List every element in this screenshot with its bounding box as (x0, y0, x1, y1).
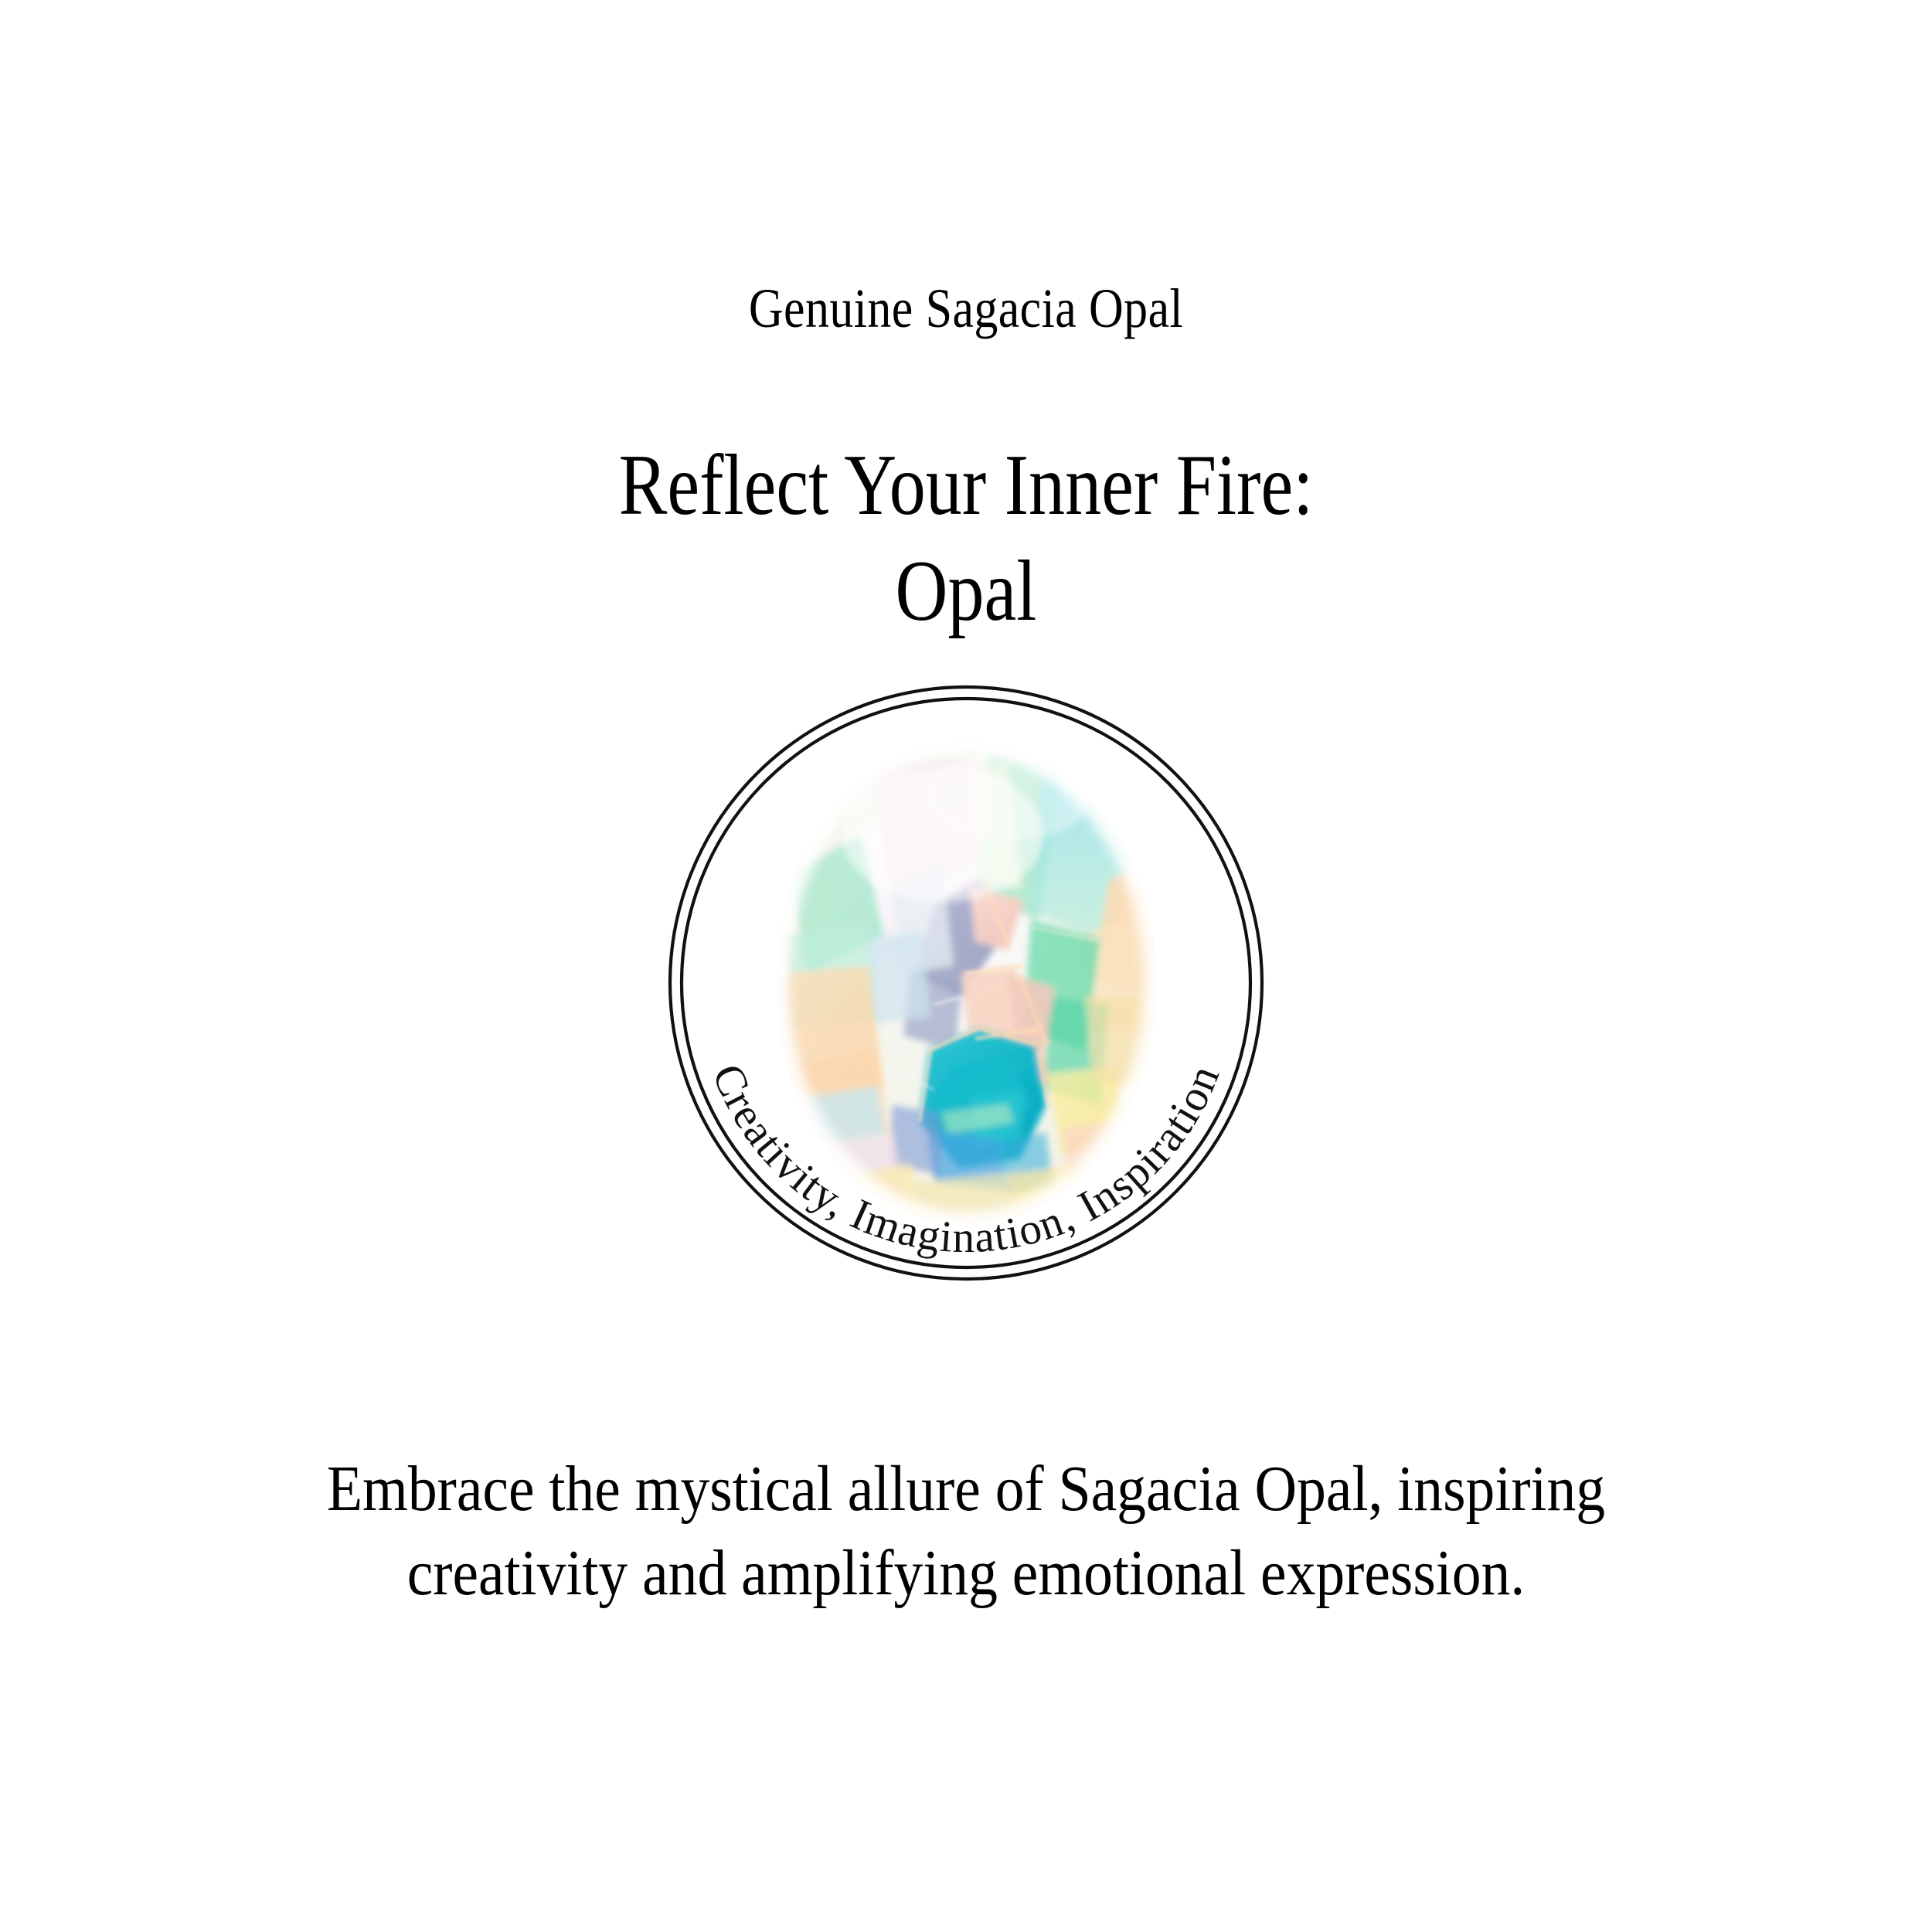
headline-line-1: Reflect Your Inner Fire: (155, 433, 1777, 539)
product-description: Embrace the mystical allure of Sagacia O… (270, 1447, 1662, 1615)
brand-eyebrow: Genuine Sagacia Opal (135, 278, 1797, 339)
ring-outer-circle (670, 687, 1262, 1279)
product-card: Genuine Sagacia Opal Reflect Your Inner … (0, 0, 1932, 1932)
page-title: Reflect Your Inner Fire: Opal (155, 433, 1777, 644)
emblem-ring: Creativity, Imagination, Inspiration (668, 685, 1264, 1281)
emblem-arc-text: Creativity, Imagination, Inspiration (702, 1057, 1230, 1262)
ring-inner-circle (682, 699, 1250, 1267)
headline-line-2: Opal (155, 539, 1777, 645)
